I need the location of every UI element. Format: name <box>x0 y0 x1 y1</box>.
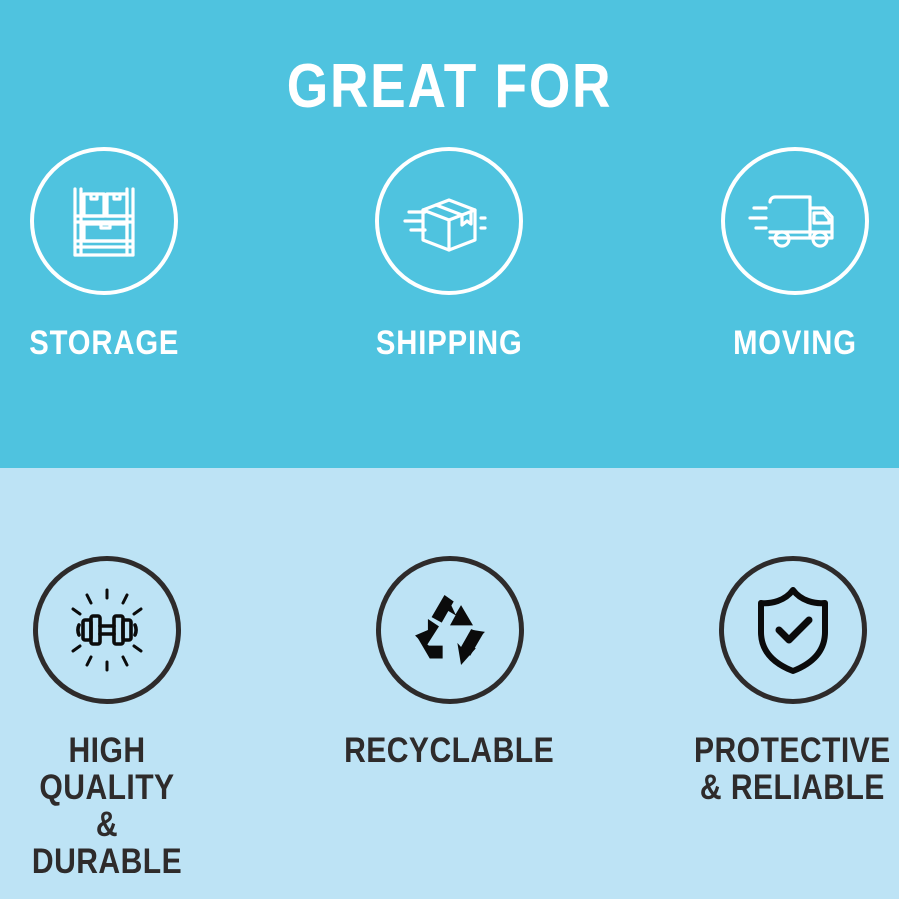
feature-label: RECYCLABLE <box>344 732 554 769</box>
package-box-motion-icon <box>403 178 495 264</box>
recyclable-icon-circle <box>376 556 524 704</box>
bottom-feature-row: HIGH QUALITY & DURABLE <box>0 468 899 880</box>
top-panel: GREAT FOR <box>0 0 899 468</box>
storage-icon-circle <box>30 147 178 295</box>
shipping-icon-circle <box>375 147 523 295</box>
dumbbell-shine-icon <box>55 578 159 682</box>
feature-recyclable[interactable]: RECYCLABLE <box>345 556 555 769</box>
feature-storage[interactable]: STORAGE <box>0 147 208 361</box>
delivery-truck-icon <box>748 186 842 256</box>
feature-shipping[interactable]: SHIPPING <box>345 147 553 361</box>
feature-high-quality[interactable]: HIGH QUALITY & DURABLE <box>2 556 212 880</box>
protective-icon-circle <box>719 556 867 704</box>
bottom-panel: HIGH QUALITY & DURABLE <box>0 468 899 899</box>
feature-label: HIGH QUALITY & DURABLE <box>16 732 197 880</box>
moving-icon-circle <box>721 147 869 295</box>
feature-protective[interactable]: PROTECTIVE & RELIABLE <box>688 556 898 806</box>
feature-moving[interactable]: MOVING <box>691 147 899 361</box>
feature-label: STORAGE <box>29 325 179 361</box>
feature-label: SHIPPING <box>376 325 523 361</box>
shield-check-icon <box>747 582 839 678</box>
infographic-root: GREAT FOR <box>0 0 899 899</box>
feature-label: MOVING <box>733 325 857 361</box>
recycling-arrows-icon <box>404 584 496 676</box>
warehouse-shelf-boxes-icon <box>61 178 147 264</box>
quality-icon-circle <box>33 556 181 704</box>
top-feature-row: STORAGE <box>0 118 899 361</box>
page-title: GREAT FOR <box>63 0 836 118</box>
feature-label: PROTECTIVE & RELIABLE <box>694 732 891 806</box>
